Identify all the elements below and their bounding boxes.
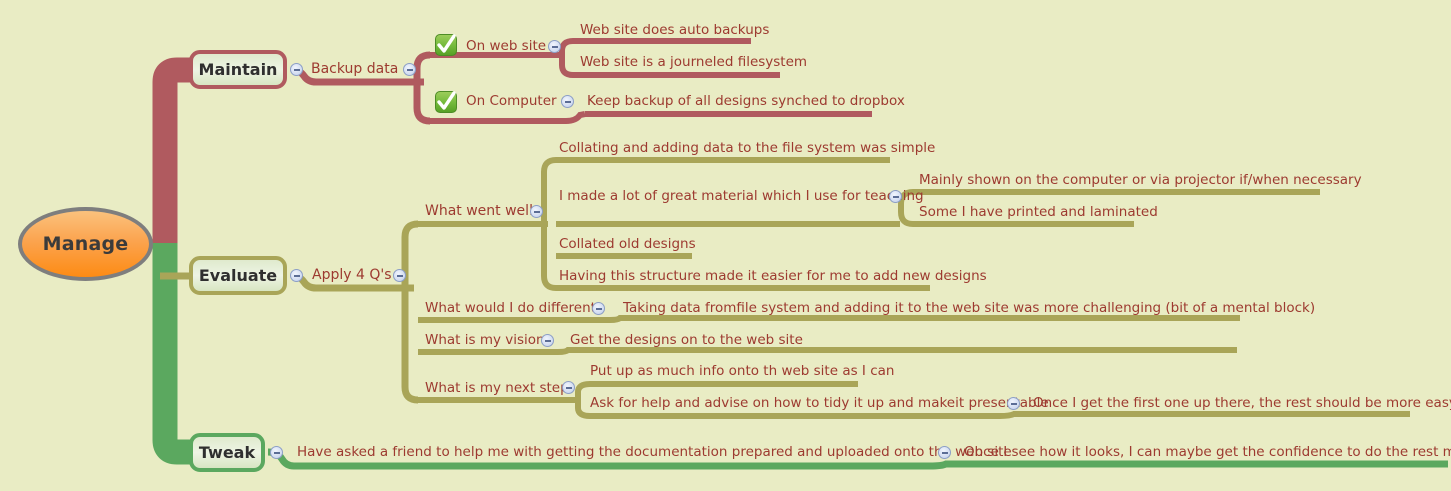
collapse-minus-icon-what-different[interactable]	[592, 302, 605, 315]
trunk-maintain	[165, 70, 190, 243]
topic-on-web-site[interactable]: On web site	[466, 39, 546, 54]
topic-mainly-shown[interactable]: Mainly shown on the computer or via proj…	[919, 173, 1362, 188]
collapse-minus-icon-backup-data[interactable]	[403, 63, 416, 76]
collapse-minus-icon-what-vision[interactable]	[541, 334, 554, 347]
topic-get-designs[interactable]: Get the designs on to the web site	[570, 333, 803, 348]
topic-what-next-step[interactable]: What is my next step	[425, 381, 569, 396]
check-mark-icon	[433, 89, 459, 115]
branch-node-tweak[interactable]: Tweak	[189, 433, 265, 472]
wire-ah-bend	[1000, 414, 1020, 416]
branch-node-maintain-label: Maintain	[199, 60, 278, 79]
mindmap-canvas: Manage Maintain Evaluate Tweak Backup da…	[0, 0, 1451, 491]
topic-structure-easier[interactable]: Having this structure made it easier for…	[559, 269, 987, 284]
root-node-manage[interactable]: Manage	[18, 207, 153, 281]
wire-oncomp-bend	[566, 114, 585, 121]
branch-node-tweak-label: Tweak	[199, 443, 255, 462]
wire-apply4qs-fork	[405, 224, 418, 400]
topic-backup-data[interactable]: Backup data	[311, 62, 398, 77]
collapse-minus-icon-ask-for-help[interactable]	[1007, 397, 1020, 410]
topic-printed-laminated[interactable]: Some I have printed and laminated	[919, 205, 1158, 220]
collapse-minus-icon-what-next-step[interactable]	[562, 381, 575, 394]
branch-node-maintain[interactable]: Maintain	[189, 50, 287, 89]
branch-node-evaluate-label: Evaluate	[199, 266, 277, 285]
topic-keep-backup-dropbox[interactable]: Keep backup of all designs synched to dr…	[587, 94, 905, 109]
topic-what-different[interactable]: What would I do different	[425, 301, 596, 316]
topic-apply-4-qs[interactable]: Apply 4 Q's	[312, 268, 392, 283]
collapse-minus-icon-evaluate[interactable]	[290, 269, 303, 282]
check-mark-icon	[433, 32, 459, 58]
topic-once-i-see[interactable]: Once I see how it looks, I can maybe get…	[964, 445, 1451, 460]
collapse-minus-icon-what-went-well[interactable]	[530, 205, 543, 218]
topic-collated-old[interactable]: Collated old designs	[559, 237, 696, 252]
topic-on-computer[interactable]: On Computer	[466, 94, 557, 109]
collapse-minus-icon-on-computer[interactable]	[561, 95, 574, 108]
wire-wv-bend	[558, 350, 572, 352]
wire-wd-bend	[610, 318, 624, 320]
collapse-minus-icon-tweak[interactable]	[270, 446, 283, 459]
topic-collating-simple[interactable]: Collating and adding data to the file sy…	[559, 141, 935, 156]
topic-put-up-info[interactable]: Put up as much info onto th web site as …	[590, 364, 894, 379]
branch-node-evaluate[interactable]: Evaluate	[189, 256, 287, 295]
topic-ask-for-help[interactable]: Ask for help and advise on how to tidy i…	[590, 396, 1049, 411]
topic-asked-friend[interactable]: Have asked a friend to help me with gett…	[297, 445, 1012, 460]
collapse-minus-icon-maintain[interactable]	[290, 63, 303, 76]
collapse-minus-icon-great-material[interactable]	[889, 190, 902, 203]
collapse-minus-icon-on-web-site[interactable]	[548, 40, 561, 53]
wire-backup-fork	[417, 55, 430, 121]
root-node-label: Manage	[43, 233, 129, 255]
wire-af-bend	[930, 464, 952, 466]
topic-web-journeled[interactable]: Web site is a journeled filesystem	[580, 55, 807, 70]
wire-wn-fork	[578, 384, 590, 416]
topic-great-material[interactable]: I made a lot of great material which I u…	[559, 189, 924, 204]
topic-once-i-get[interactable]: Once I get the first one up there, the r…	[1033, 396, 1451, 411]
topic-web-auto-backups[interactable]: Web site does auto backups	[580, 23, 769, 38]
wire-wgw-fork	[544, 160, 556, 288]
topic-what-vision[interactable]: What is my vision	[425, 333, 545, 348]
collapse-minus-icon-apply-4-qs[interactable]	[393, 269, 406, 282]
topic-taking-data[interactable]: Taking data fromfile system and adding i…	[623, 301, 1315, 316]
trunk-tweak	[165, 243, 190, 452]
collapse-minus-icon-asked-friend[interactable]	[938, 446, 951, 459]
wire-onweb-fork	[562, 41, 573, 75]
topic-what-went-well[interactable]: What went well	[425, 204, 533, 219]
